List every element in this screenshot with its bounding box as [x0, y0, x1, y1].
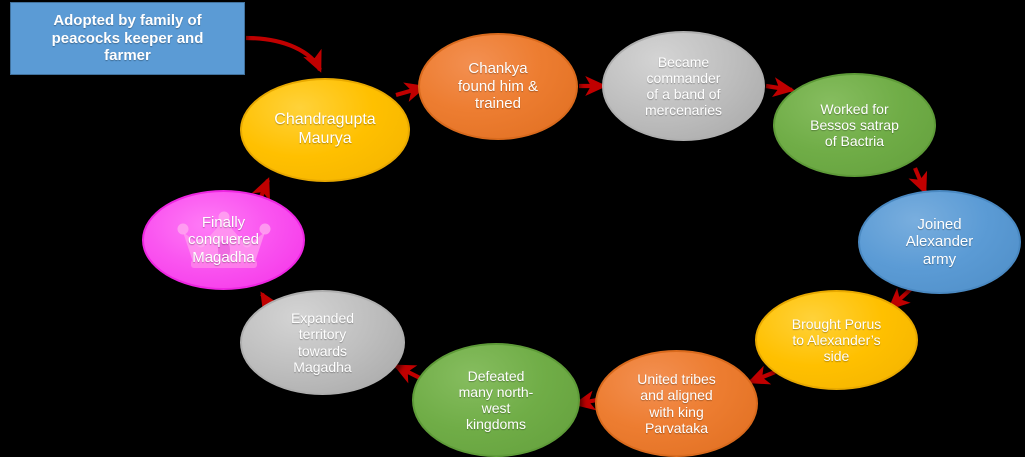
- node-united-tribes[interactable]: United tribes and aligned with king Parv…: [595, 350, 758, 457]
- node-finally-conquered-magadha[interactable]: Finally conquered Magadha: [142, 190, 305, 290]
- node-joined-alexander-army-label: Joined Alexander army: [900, 216, 980, 268]
- node-finally-conquered-magadha-label: Finally conquered Magadha: [182, 214, 265, 266]
- node-chandragupta-maurya[interactable]: Chandragupta Maurya: [240, 78, 410, 182]
- edge-porus-to-united: [750, 372, 775, 382]
- node-became-commander-label: Became commander of a band of mercenarie…: [639, 54, 728, 119]
- node-brought-porus-label: Brought Porus to Alexander’s side: [786, 316, 888, 365]
- node-expanded-territory[interactable]: Expanded territory towards Magadha: [240, 290, 405, 395]
- node-became-commander[interactable]: Became commander of a band of mercenarie…: [602, 31, 765, 141]
- intro-box-label: Adopted by family of peacocks keeper and…: [46, 12, 210, 64]
- node-chandragupta-maurya-label: Chandragupta Maurya: [268, 111, 381, 148]
- diagram-canvas: Adopted by family of peacocks keeper and…: [0, 0, 1025, 457]
- node-worked-for-bessos-label: Worked for Bessos satrap of Bactria: [804, 101, 905, 150]
- node-brought-porus[interactable]: Brought Porus to Alexander’s side: [755, 290, 918, 390]
- node-worked-for-bessos[interactable]: Worked for Bessos satrap of Bactria: [773, 73, 936, 177]
- node-joined-alexander-army[interactable]: Joined Alexander army: [858, 190, 1021, 294]
- node-chankya-found-him-label: Chankya found him & trained: [452, 60, 544, 112]
- node-united-tribes-label: United tribes and aligned with king Parv…: [631, 371, 722, 436]
- edge-bessos-to-alexander: [915, 168, 925, 192]
- intro-box[interactable]: Adopted by family of peacocks keeper and…: [10, 2, 245, 75]
- node-expanded-territory-label: Expanded territory towards Magadha: [285, 310, 360, 375]
- edge-commander-to-bessos: [766, 86, 792, 90]
- node-defeated-northwest-kingdoms-label: Defeated many north- west kingdoms: [453, 368, 540, 433]
- node-chankya-found-him[interactable]: Chankya found him & trained: [418, 33, 578, 140]
- node-defeated-northwest-kingdoms[interactable]: Defeated many north- west kingdoms: [412, 343, 580, 457]
- edge-intro-to-chandragupta: [246, 38, 320, 70]
